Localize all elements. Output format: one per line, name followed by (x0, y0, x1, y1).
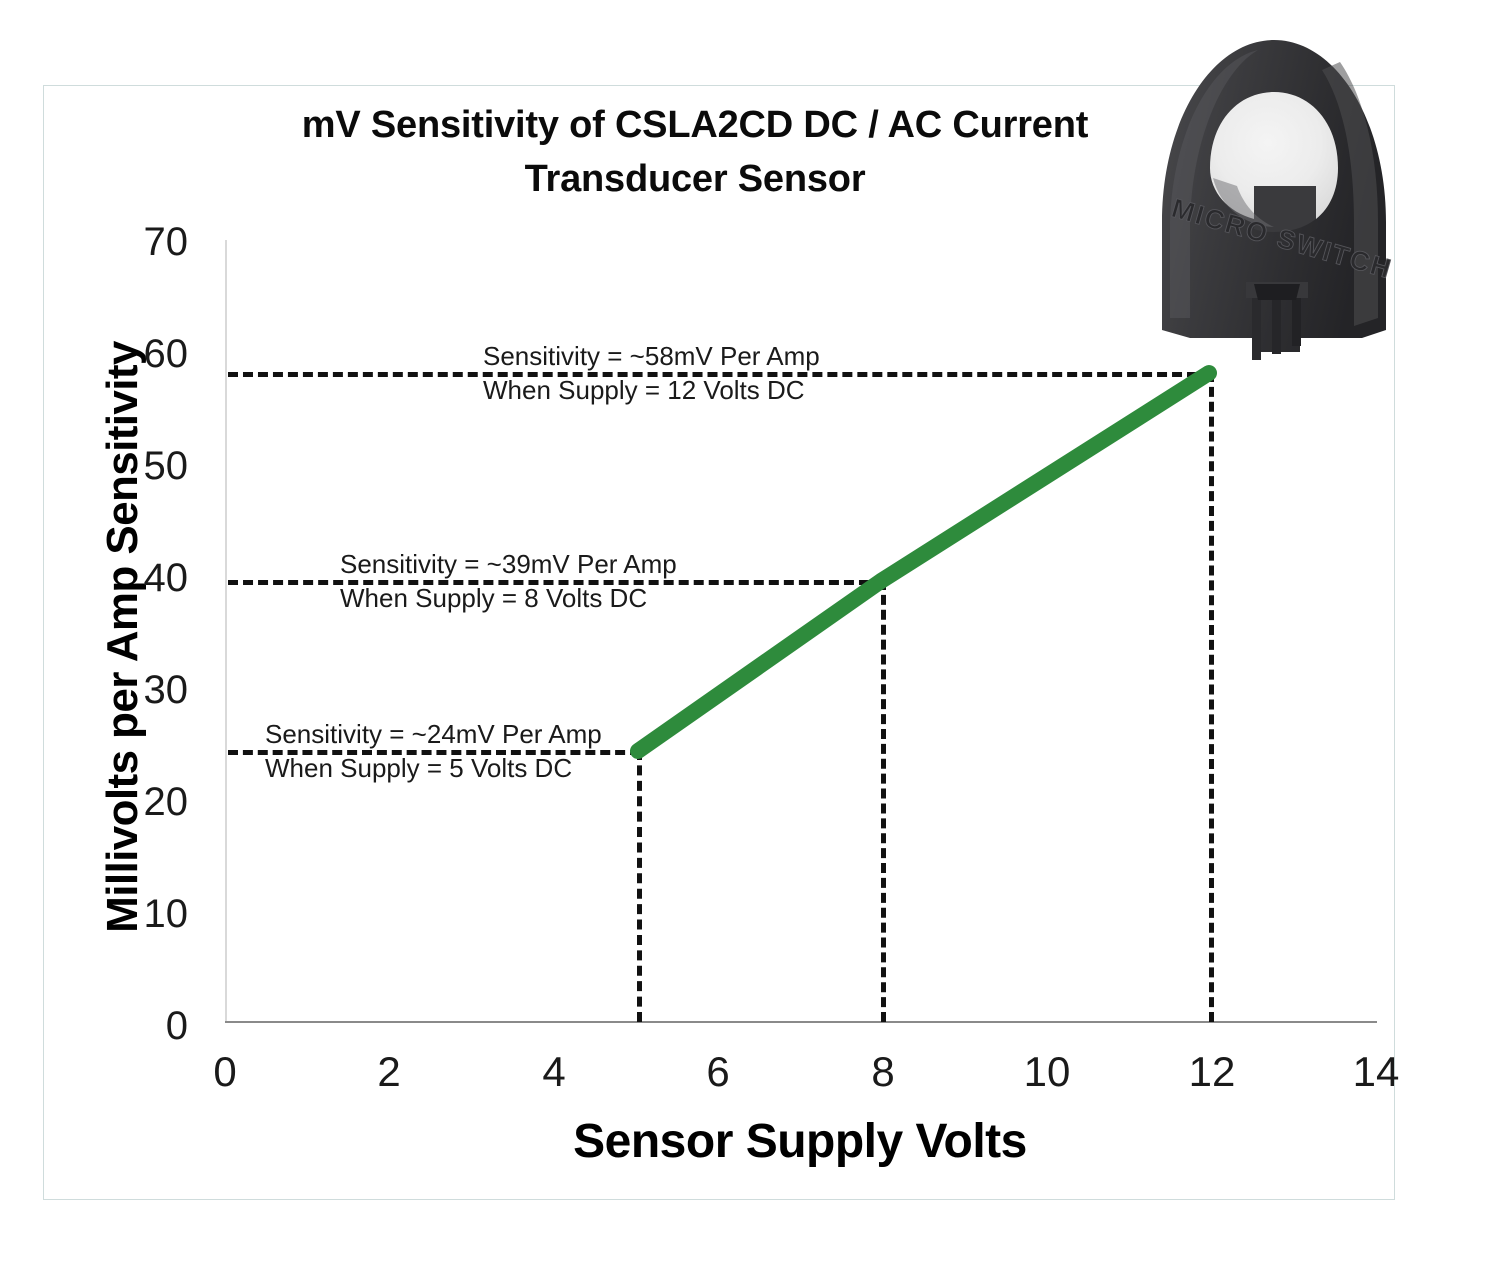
x-tick-label-4: 4 (499, 1051, 609, 1093)
annotation-12v: Sensitivity = ~58mV Per Amp When Supply … (483, 339, 820, 407)
annotation-12v-line-1: Sensitivity = ~58mV Per Amp (483, 339, 820, 373)
y-tick-label-50: 50 (98, 446, 188, 486)
x-tick-label-10: 10 (992, 1051, 1102, 1093)
annotation-8v: Sensitivity = ~39mV Per Amp When Supply … (340, 547, 677, 615)
y-tick-label-20: 20 (98, 782, 188, 822)
x-tick-label-2: 2 (334, 1051, 444, 1093)
chart-title-line-2: Transducer Sensor (180, 152, 1210, 206)
annotation-5v: Sensitivity = ~24mV Per Amp When Supply … (265, 717, 602, 785)
y-tick-label-70: 70 (98, 222, 188, 262)
x-tick-label-8: 8 (828, 1051, 938, 1093)
y-axis-line (225, 240, 227, 1023)
guide-line-vertical-8v (881, 580, 886, 1022)
y-tick-label-10: 10 (98, 894, 188, 934)
annotation-12v-line-2: When Supply = 12 Volts DC (483, 373, 820, 407)
x-axis-title: Sensor Supply Volts (225, 1114, 1375, 1169)
y-tick-label-30: 30 (98, 670, 188, 710)
x-tick-label-0: 0 (170, 1051, 280, 1093)
chart-title: mV Sensitivity of CSLA2CD DC / AC Curren… (180, 98, 1210, 206)
csla2cd-current-transducer-photo: MICRO SWITCH (1104, 0, 1444, 400)
y-tick-label-0: 0 (98, 1006, 188, 1046)
sensor-pin-notch (1254, 284, 1300, 300)
chart-title-line-1: mV Sensitivity of CSLA2CD DC / AC Curren… (302, 104, 1088, 146)
annotation-8v-line-2: When Supply = 8 Volts DC (340, 581, 677, 615)
annotation-5v-line-2: When Supply = 5 Volts DC (265, 751, 602, 785)
x-tick-label-14: 14 (1321, 1051, 1431, 1093)
annotation-5v-line-1: Sensitivity = ~24mV Per Amp (265, 717, 602, 751)
chart-screenshot: mV Sensitivity of CSLA2CD DC / AC Curren… (0, 0, 1500, 1269)
x-tick-label-6: 6 (663, 1051, 773, 1093)
y-tick-label-40: 40 (98, 558, 188, 598)
x-axis-line (225, 1021, 1377, 1023)
annotation-8v-line-1: Sensitivity = ~39mV Per Amp (340, 547, 677, 581)
y-tick-label-60: 60 (98, 334, 188, 374)
guide-line-vertical-12v (1209, 372, 1214, 1022)
x-tick-label-12: 12 (1157, 1051, 1267, 1093)
guide-line-vertical-5v (637, 750, 642, 1022)
